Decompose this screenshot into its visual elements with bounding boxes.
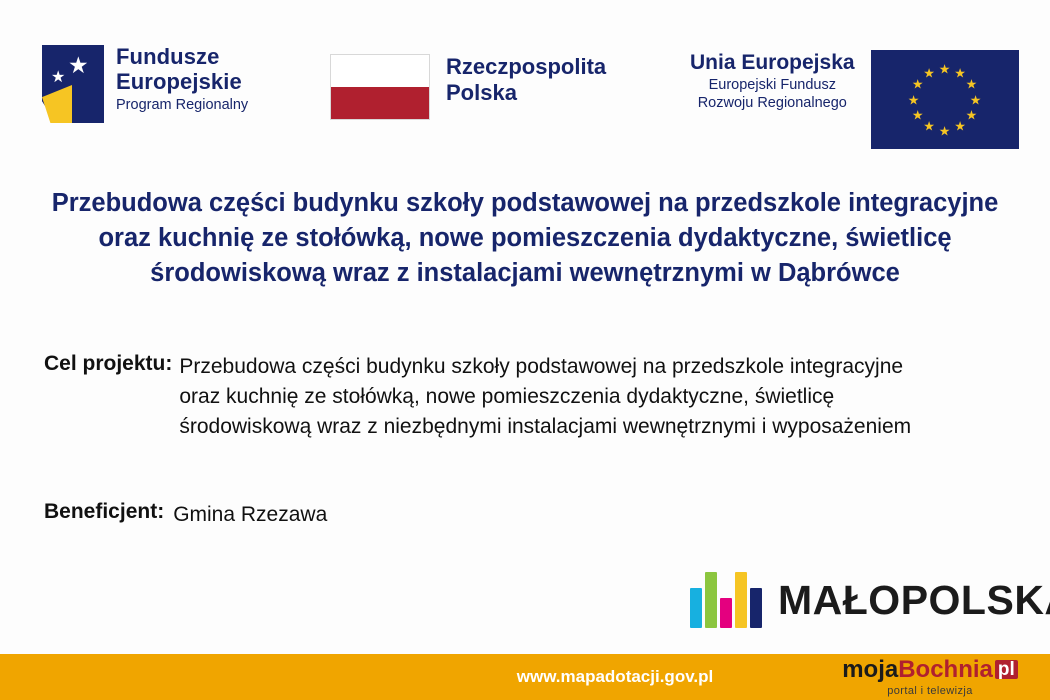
field-beneficjent: Beneficjent: Gmina Rzezawa (44, 500, 327, 530)
malopolska-mark-icon (690, 572, 764, 628)
polska-line1: Rzeczpospolita (446, 54, 606, 80)
fundusze-line3: Program Regionalny (116, 97, 248, 113)
poland-flag-icon (330, 54, 430, 120)
footer-bar: www.mapadotacji.gov.pl mojaBochniapl por… (0, 654, 1050, 700)
fundusze-line2: Europejskie (116, 70, 248, 95)
malopolska-wordmark: MAŁOPOLSKA (778, 577, 1050, 624)
malopolska-logo: MAŁOPOLSKA (690, 572, 1050, 628)
unia-europejska-logo: Unia Europejska Europejski Fundusz Rozwo… (690, 50, 1019, 149)
polska-line2: Polska (446, 80, 606, 106)
mojabochnia-main: Bochnia (898, 656, 993, 683)
eu-star-icon: ★ (966, 78, 978, 91)
eu-flag-icon: ★★★★★★★★★★★★ (871, 50, 1019, 149)
rzeczpospolita-polska-logo: Rzeczpospolita Polska (330, 54, 606, 120)
eu-star-icon: ★ (912, 78, 924, 91)
eu-funding-logo-strip: ★ ★ Fundusze Europejskie Program Regiona… (0, 0, 1050, 160)
malopolska-bar (735, 572, 747, 628)
malopolska-bar (690, 588, 702, 628)
fundusze-line1: Fundusze (116, 45, 248, 70)
eu-star-icon: ★ (954, 120, 966, 133)
beneficjent-label: Beneficjent: (44, 500, 164, 524)
mojabochnia-prefix: moja (842, 656, 898, 683)
eu-star-icon: ★ (939, 124, 951, 137)
cel-projektu-value: Przebudowa części budynku szkoły podstaw… (179, 352, 949, 441)
cel-projektu-label: Cel projektu: (44, 352, 172, 376)
unia-line3: Rozwoju Regionalnego (690, 94, 855, 112)
page-title: Przebudowa części budynku szkoły podstaw… (42, 186, 1008, 292)
eu-star-icon: ★ (966, 109, 978, 122)
project-information-board: ★ ★ Fundusze Europejskie Program Regiona… (0, 0, 1050, 700)
eu-star-icon: ★ (923, 120, 935, 133)
eu-star-icon: ★ (970, 93, 982, 106)
malopolska-bar (750, 588, 762, 628)
mojabochnia-tagline: portal i telewizja (887, 685, 972, 697)
mojabochnia-logo[interactable]: mojaBochniapl portal i telewizja (810, 654, 1050, 700)
fundusze-europejskie-mark-icon: ★ ★ (42, 45, 104, 123)
eu-star-icon: ★ (908, 93, 920, 106)
fundusze-europejskie-logo: ★ ★ Fundusze Europejskie Program Regiona… (42, 45, 248, 123)
field-cel-projektu: Cel projektu: Przebudowa części budynku … (44, 352, 1004, 441)
eu-star-icon: ★ (923, 66, 935, 79)
eu-star-icon: ★ (939, 62, 951, 75)
unia-line1: Unia Europejska (690, 50, 855, 76)
unia-line2: Europejski Fundusz (690, 76, 855, 94)
malopolska-bar (720, 598, 732, 628)
malopolska-bar (705, 572, 717, 628)
mojabochnia-badge: pl (995, 660, 1018, 679)
eu-star-icon: ★ (954, 66, 966, 79)
beneficjent-value: Gmina Rzezawa (173, 500, 327, 530)
eu-star-icon: ★ (912, 109, 924, 122)
